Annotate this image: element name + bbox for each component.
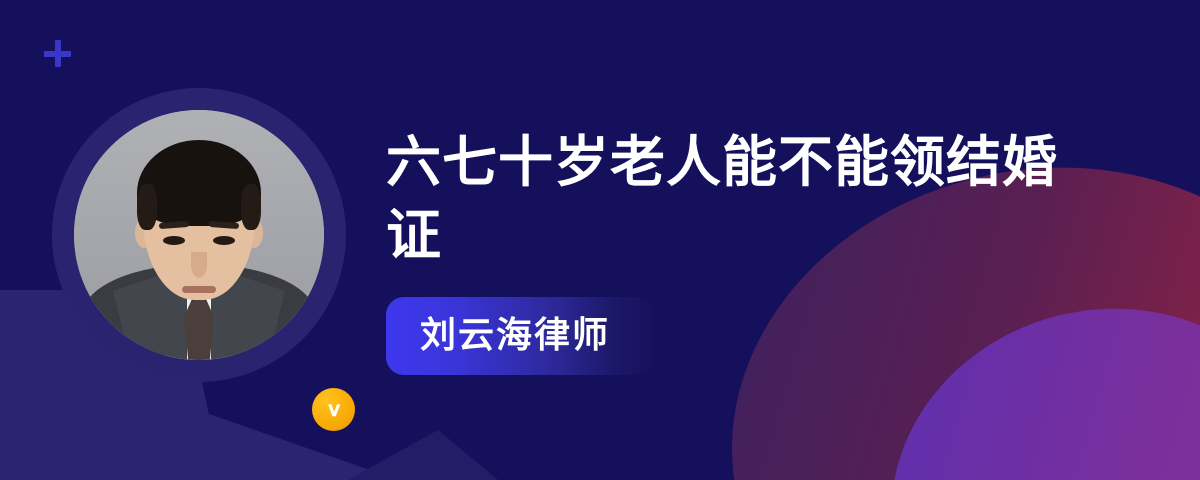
author-button[interactable]: 刘云海律师 — [386, 297, 658, 375]
portrait-tie — [184, 298, 214, 360]
portrait-mouth — [182, 286, 216, 293]
portrait-eye-right — [213, 236, 235, 245]
legal-qa-banner: 六七十岁老人能不能领结婚证 刘云海律师 — [0, 0, 1200, 480]
portrait-eye-left — [163, 236, 185, 245]
portrait-nose — [191, 252, 207, 278]
avatar — [52, 88, 346, 382]
portrait-hair-side-right — [241, 184, 261, 230]
avatar-photo — [74, 110, 324, 360]
verified-badge-icon — [312, 388, 355, 431]
page-title: 六七十岁老人能不能领结婚证 — [386, 126, 1076, 271]
plus-icon — [44, 40, 71, 67]
wedge-polygon — [330, 430, 510, 480]
portrait-hair-side-left — [137, 184, 157, 230]
content-column: 六七十岁老人能不能领结婚证 刘云海律师 — [386, 126, 1086, 375]
